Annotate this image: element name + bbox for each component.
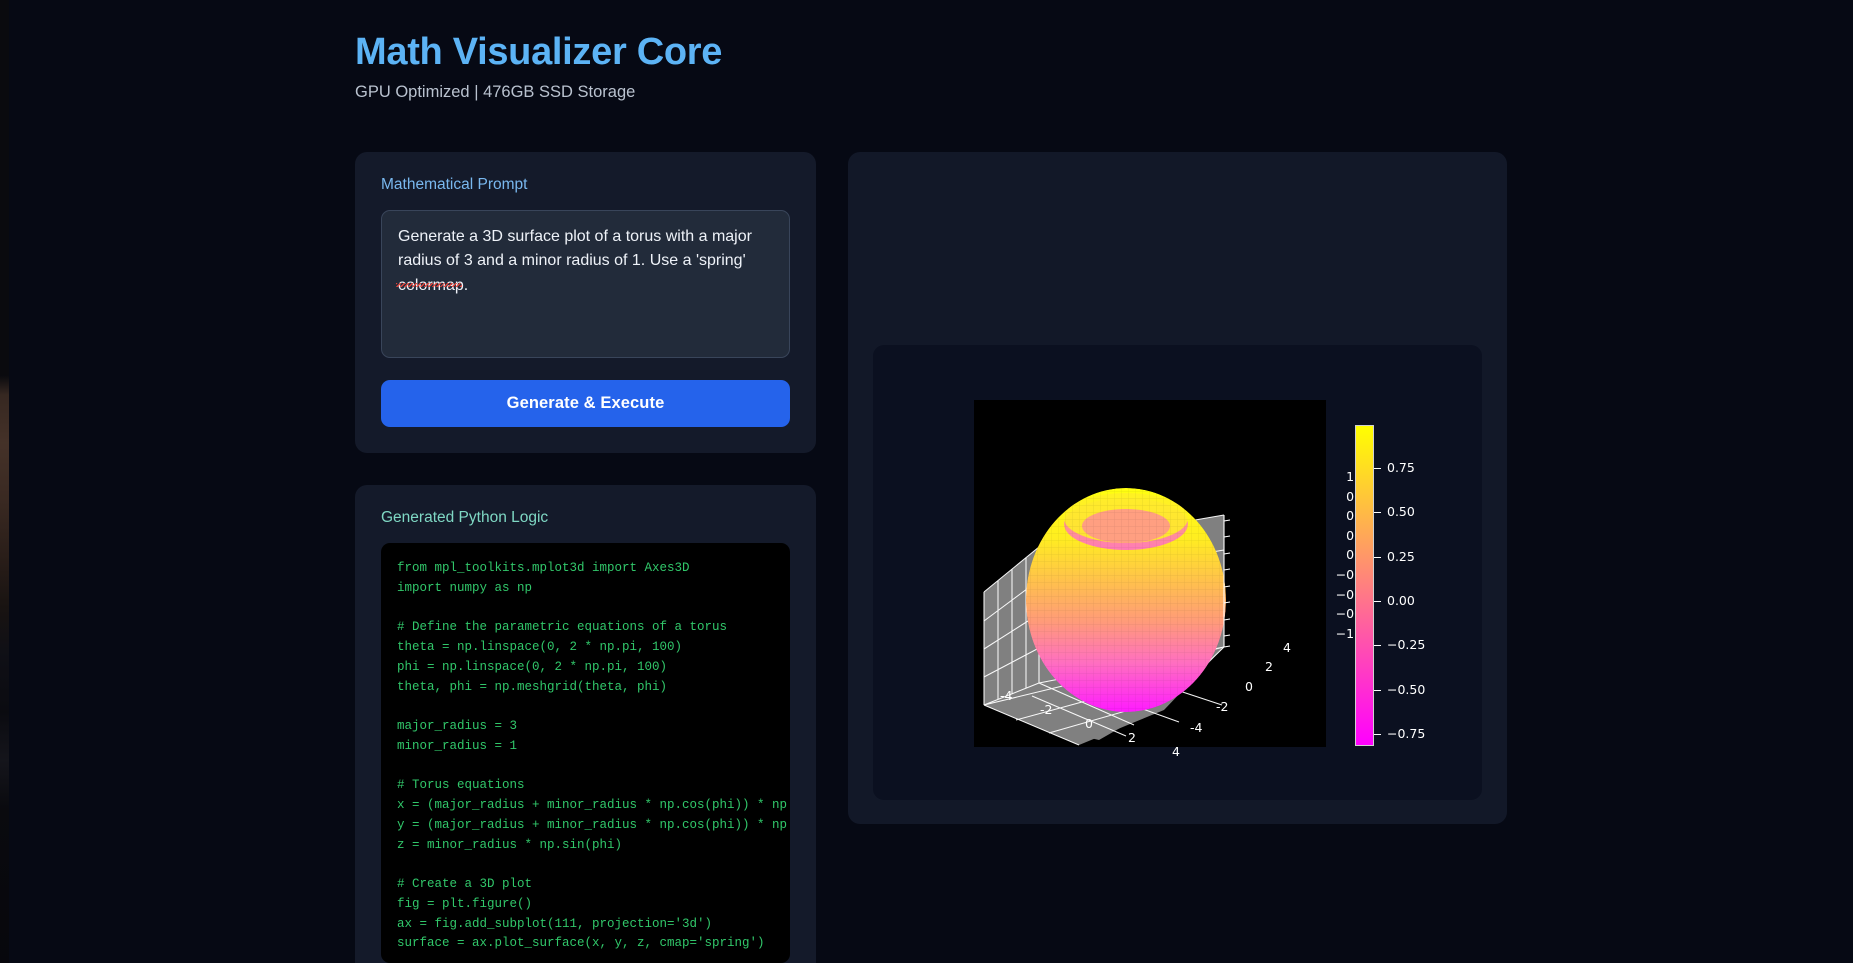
python-code: from mpl_toolkits.mplot3d import Axes3D … [397, 559, 790, 963]
colorbar-tick-dash [1374, 645, 1381, 646]
x-tick: -4 [1000, 688, 1012, 703]
x-tick: -2 [1040, 702, 1052, 717]
x-tick: 2 [1128, 730, 1136, 745]
page-subtitle: GPU Optimized | 476GB SSD Storage [355, 83, 1255, 102]
generated-code-card: Generated Python Logic from mpl_toolkits… [355, 485, 816, 963]
generate-execute-button[interactable]: Generate & Execute [381, 380, 790, 427]
y-tick: -2 [1216, 699, 1228, 714]
colorbar-tick-dash [1374, 557, 1381, 558]
prompt-label: Mathematical Prompt [381, 176, 790, 194]
left-edge-artifact [0, 0, 9, 963]
colorbar-tick-label: −0.25 [1387, 637, 1425, 652]
y-tick: 0 [1245, 679, 1253, 694]
y-tick: 4 [1283, 640, 1291, 655]
torus-surface-plot [974, 400, 1326, 747]
x-tick: 0 [1085, 716, 1093, 731]
app-root: Math Visualizer Core GPU Optimized | 476… [0, 0, 1853, 963]
colorbar-tick-dash [1374, 468, 1381, 469]
y-tick: 2 [1265, 659, 1273, 674]
colorbar-tick-dash [1374, 512, 1381, 513]
colorbar-tick-label: 0.00 [1387, 593, 1415, 608]
colorbar-ticks: 0.75 0.50 0.25 0.00 −0.25 −0.50 −0.75 [1374, 425, 1464, 746]
colorbar-tick-label: −0.75 [1387, 726, 1425, 741]
page-header: Math Visualizer Core GPU Optimized | 476… [355, 30, 1255, 102]
colorbar-tick-label: −0.50 [1387, 682, 1425, 697]
code-block[interactable]: from mpl_toolkits.mplot3d import Axes3D … [381, 543, 790, 963]
prompt-card: Mathematical Prompt Generate & Execute [355, 152, 816, 453]
colorbar-tick-label: 0.75 [1387, 460, 1415, 475]
colorbar-tick-dash [1374, 690, 1381, 691]
page-title: Math Visualizer Core [355, 30, 1255, 75]
left-column: Mathematical Prompt Generate & Execute G… [355, 152, 816, 963]
colorbar-tick-dash [1374, 601, 1381, 602]
colorbar-tick-label: 0.50 [1387, 504, 1415, 519]
y-tick: -4 [1190, 720, 1202, 735]
colorbar-tick-label: 0.25 [1387, 549, 1415, 564]
generated-code-label: Generated Python Logic [381, 509, 790, 527]
x-tick: 4 [1172, 744, 1180, 759]
colorbar-gradient [1355, 425, 1374, 746]
matplotlib-figure [974, 400, 1326, 747]
prompt-input[interactable] [381, 210, 790, 358]
colorbar-tick-dash [1374, 734, 1381, 735]
